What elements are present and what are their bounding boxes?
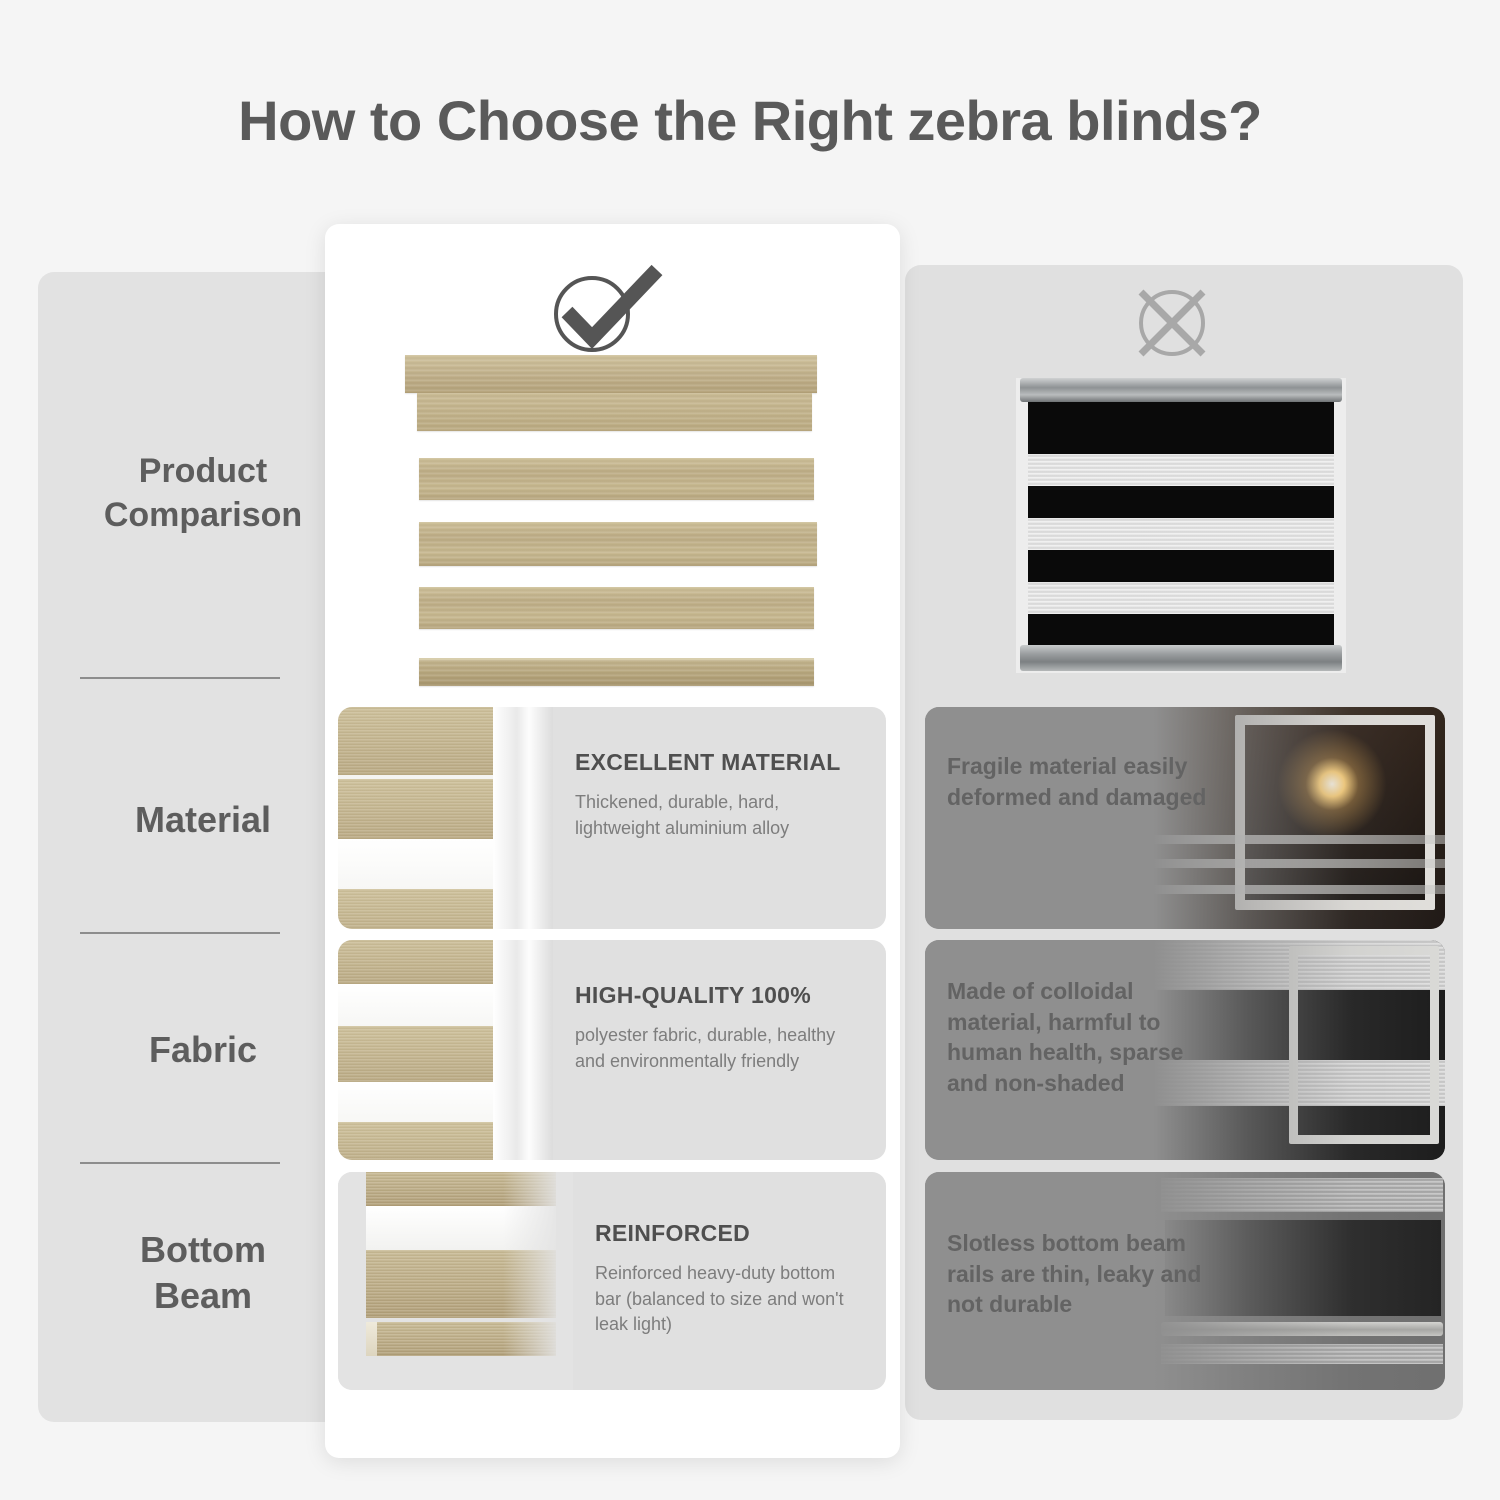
sheer-band (338, 984, 503, 1026)
blind-band (338, 707, 503, 775)
row-divider (80, 1162, 280, 1164)
sheer-band (338, 1082, 503, 1122)
row-label-line-1: Product (38, 450, 368, 494)
bad-hero-product-image (1016, 378, 1346, 673)
bad-feature-text: Slotless bottom beam rails are thin, lea… (947, 1228, 1222, 1320)
row-label-bottom-beam: Bottom Beam (38, 1227, 368, 1319)
sheer-stripe (1028, 518, 1334, 550)
good-feature-text: EXCELLENT MATERIAL Thickened, durable, h… (553, 707, 886, 929)
page-title: How to Choose the Right zebra blinds? (0, 88, 1500, 153)
good-feature-card-bottom-beam: REINFORCED Reinforced heavy-duty bottom … (338, 1172, 886, 1390)
row-divider (80, 932, 280, 934)
blind-band (338, 1026, 503, 1082)
good-hero-product-image (405, 355, 817, 700)
feature-title: EXCELLENT MATERIAL (575, 749, 868, 776)
window-frame (493, 707, 553, 929)
sheer-band (338, 839, 503, 889)
feature-description: Thickened, durable, hard, lightweight al… (575, 790, 845, 841)
good-feature-text: REINFORCED Reinforced heavy-duty bottom … (573, 1172, 886, 1390)
good-feature-text: HIGH-QUALITY 100% polyester fabric, dura… (553, 940, 886, 1160)
blind-bottom-bar (419, 658, 814, 686)
feature-title: REINFORCED (595, 1220, 868, 1247)
beige-fabric-closeup-photo (338, 940, 553, 1160)
reinforced-bottom-bar-photo (338, 1172, 573, 1390)
blind-slat (419, 522, 817, 566)
row-label-column: Product Comparison Material Fabric Botto… (38, 272, 368, 1422)
row-label-line-2: Comparison (38, 494, 368, 538)
headrail-top (405, 355, 817, 393)
blind-band (338, 1122, 503, 1160)
sheer-stripe (1028, 454, 1334, 486)
good-feature-card-material: EXCELLENT MATERIAL Thickened, durable, h… (338, 707, 886, 929)
feature-description: polyester fabric, durable, healthy and e… (575, 1023, 845, 1074)
row-label-product-comparison: Product Comparison (38, 450, 368, 537)
feature-description: Reinforced heavy-duty bottom bar (balanc… (595, 1261, 865, 1338)
cross-circle-icon (1125, 283, 1220, 363)
row-label-material: Material (38, 797, 368, 843)
bad-feature-card-fabric: Made of colloidal material, harmful to h… (925, 940, 1445, 1160)
photo-fade (503, 1172, 573, 1390)
bad-feature-text: Fragile material easily deformed and dam… (947, 751, 1222, 812)
blind-slat (419, 587, 814, 629)
bad-feature-card-bottom-beam: Slotless bottom beam rails are thin, lea… (925, 1172, 1445, 1390)
bad-bottom-rail (1020, 645, 1342, 671)
bad-blind-body (1028, 402, 1334, 645)
row-label-fabric: Fabric (38, 1027, 368, 1073)
headrail-under (417, 393, 812, 431)
blind-band (338, 779, 503, 839)
blind-slat (419, 458, 814, 500)
row-divider (80, 677, 280, 679)
bad-feature-text: Made of colloidal material, harmful to h… (947, 976, 1222, 1098)
photo-overlay (925, 707, 1445, 929)
row-label-line-2: Beam (38, 1273, 368, 1319)
sheer-stripe (1028, 582, 1334, 614)
blind-band (338, 940, 503, 984)
row-label-line-1: Bottom (38, 1227, 368, 1273)
check-circle-icon (545, 262, 665, 357)
feature-title: HIGH-QUALITY 100% (575, 982, 868, 1009)
blind-band (338, 889, 503, 929)
good-feature-card-fabric: HIGH-QUALITY 100% polyester fabric, dura… (338, 940, 886, 1160)
bad-feature-card-material: Fragile material easily deformed and dam… (925, 707, 1445, 929)
bottom-bar-endcap (366, 1322, 377, 1356)
bad-headrail (1020, 378, 1342, 402)
beige-blind-window-frame-photo (338, 707, 553, 929)
window-frame (493, 940, 553, 1160)
